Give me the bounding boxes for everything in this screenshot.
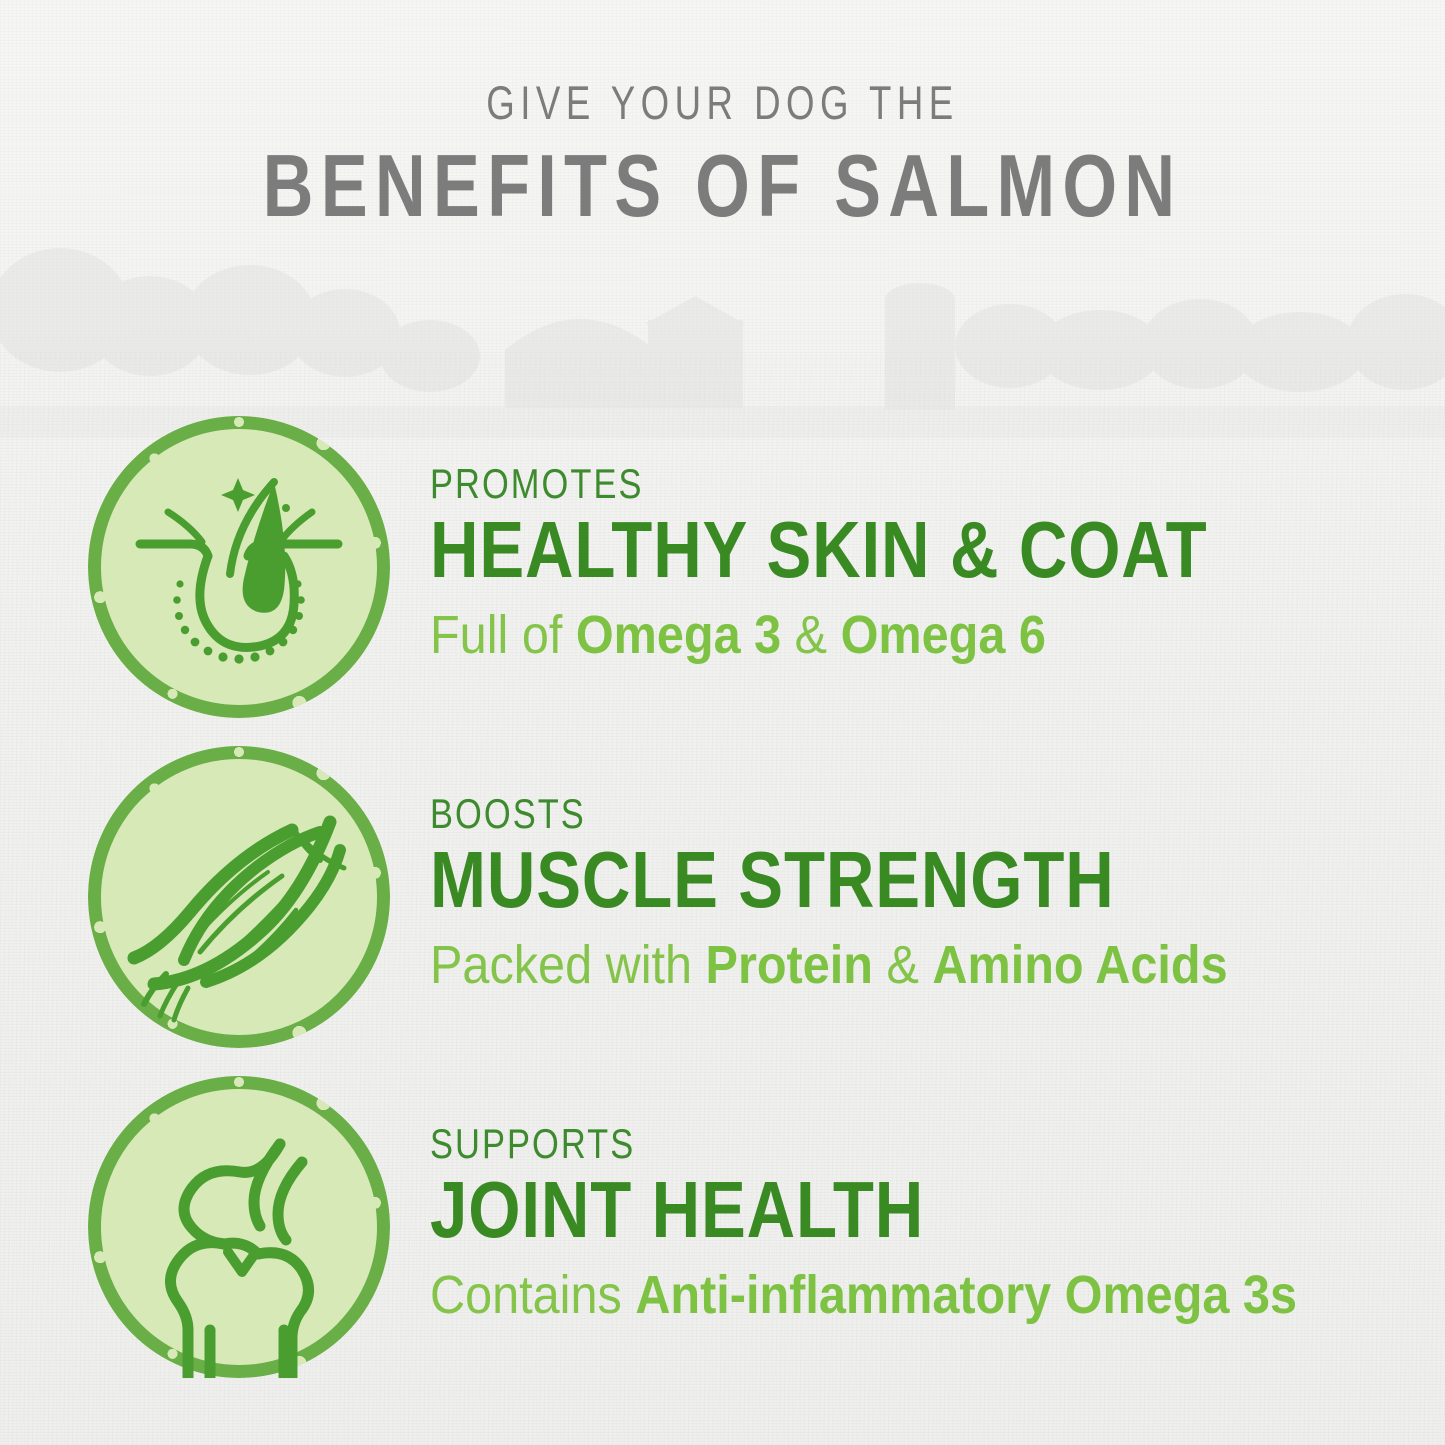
benefit-copy: PROMOTES HEALTHY SKIN & COAT Full of Ome… <box>430 463 1445 671</box>
header-kicker: GIVE YOUR DOG THE <box>159 78 1286 127</box>
benefit-eyebrow: SUPPORTS <box>430 1123 1262 1165</box>
benefits-list: PROMOTES HEALTHY SKIN & COAT Full of Ome… <box>0 402 1445 1392</box>
benefit-copy: SUPPORTS JOINT HEALTH Contains Anti-infl… <box>430 1123 1445 1331</box>
benefit-row: PROMOTES HEALTHY SKIN & COAT Full of Ome… <box>0 402 1445 732</box>
page-header: GIVE YOUR DOG THE BENEFITS OF SALMON <box>0 78 1445 236</box>
benefit-badge <box>88 746 390 1048</box>
benefit-eyebrow: BOOSTS <box>430 793 1262 835</box>
muscle-fiber-icon <box>88 746 390 1048</box>
benefit-headline: JOINT HEALTH <box>430 1167 1283 1253</box>
benefit-headline: MUSCLE STRENGTH <box>430 837 1283 923</box>
hair-follicle-skin-icon <box>88 416 390 718</box>
benefit-row: SUPPORTS JOINT HEALTH Contains Anti-infl… <box>0 1062 1445 1392</box>
benefit-copy: BOOSTS MUSCLE STRENGTH Packed with Prote… <box>430 793 1445 1001</box>
benefit-badge <box>88 1076 390 1378</box>
benefit-subtitle: Full of Omega 3 & Omega 6 <box>430 606 1344 665</box>
benefit-badge <box>88 416 390 718</box>
knee-joint-bone-icon <box>88 1076 390 1378</box>
benefit-subtitle: Packed with Protein & Amino Acids <box>430 936 1344 995</box>
benefit-row: BOOSTS MUSCLE STRENGTH Packed with Prote… <box>0 732 1445 1062</box>
benefit-subtitle: Contains Anti-inflammatory Omega 3s <box>430 1266 1344 1325</box>
benefit-eyebrow: PROMOTES <box>430 463 1262 505</box>
benefit-headline: HEALTHY SKIN & COAT <box>430 507 1283 593</box>
page-title: BENEFITS OF SALMON <box>145 137 1301 236</box>
